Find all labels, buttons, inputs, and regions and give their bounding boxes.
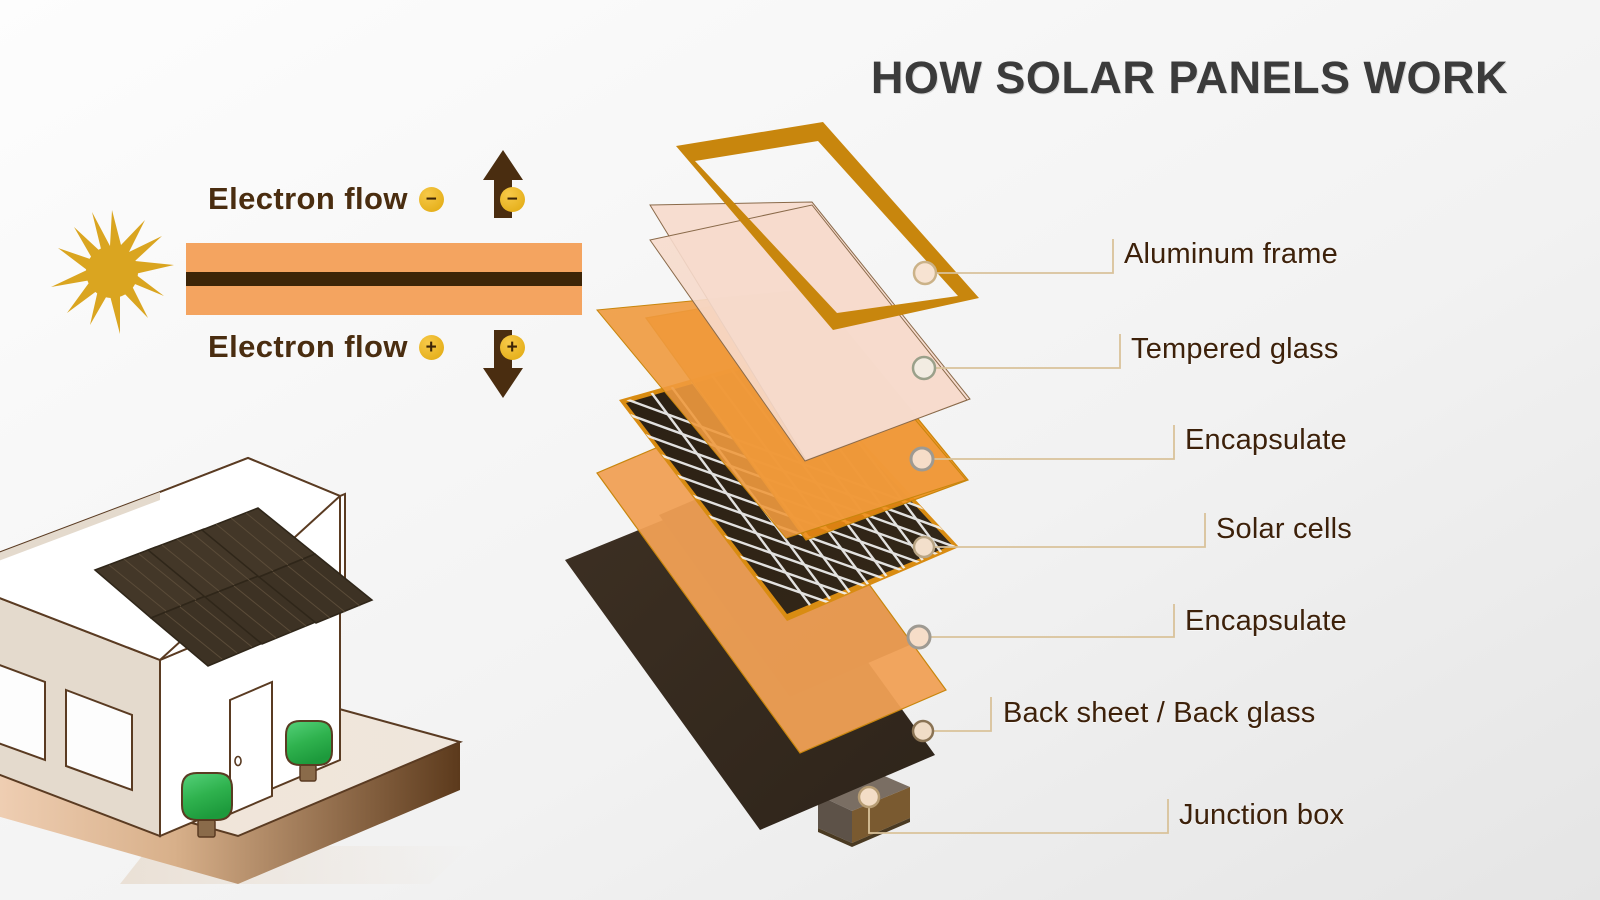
layer-label-aluminum-frame: Aluminum frame: [1124, 238, 1338, 271]
infographic-canvas: HOW SOLAR PANELS WORK Electron flow − − …: [0, 0, 1600, 900]
house-door: [230, 682, 272, 814]
dot-encapsulate-bottom: [908, 626, 930, 648]
electron-flow-top: Electron flow − −: [208, 181, 525, 217]
house-wall-right: [340, 494, 345, 586]
layer-label-back-sheet: Back sheet / Back glass: [1003, 697, 1315, 730]
dot-back-sheet: [913, 721, 933, 741]
dot-solar-cells: [914, 537, 934, 557]
charge-badge-positive: +: [500, 335, 525, 360]
layer-label-junction-box: Junction box: [1179, 799, 1344, 832]
charge-badge-positive: +: [419, 335, 444, 360]
electron-flow-bottom: Electron flow + +: [208, 329, 525, 365]
dot-junction-box: [859, 787, 879, 807]
charge-badge-negative: −: [419, 187, 444, 212]
solar-diagram-svg: [0, 0, 1600, 900]
cell-cross-section: [186, 243, 582, 315]
dot-aluminum-frame: [914, 262, 936, 284]
dot-tempered-glass: [913, 357, 935, 379]
electron-flow-top-label: Electron flow: [208, 181, 408, 217]
charge-badge-negative: −: [500, 187, 525, 212]
layer-label-tempered-glass: Tempered glass: [1131, 333, 1339, 366]
electron-flow-bottom-label: Electron flow: [208, 329, 408, 365]
layer-label-solar-cells: Solar cells: [1216, 513, 1352, 546]
page-title: HOW SOLAR PANELS WORK: [871, 52, 1508, 104]
dot-encapsulate-top: [911, 448, 933, 470]
layer-label-encapsulate-bottom: Encapsulate: [1185, 605, 1347, 638]
layer-label-encapsulate-top: Encapsulate: [1185, 424, 1347, 457]
